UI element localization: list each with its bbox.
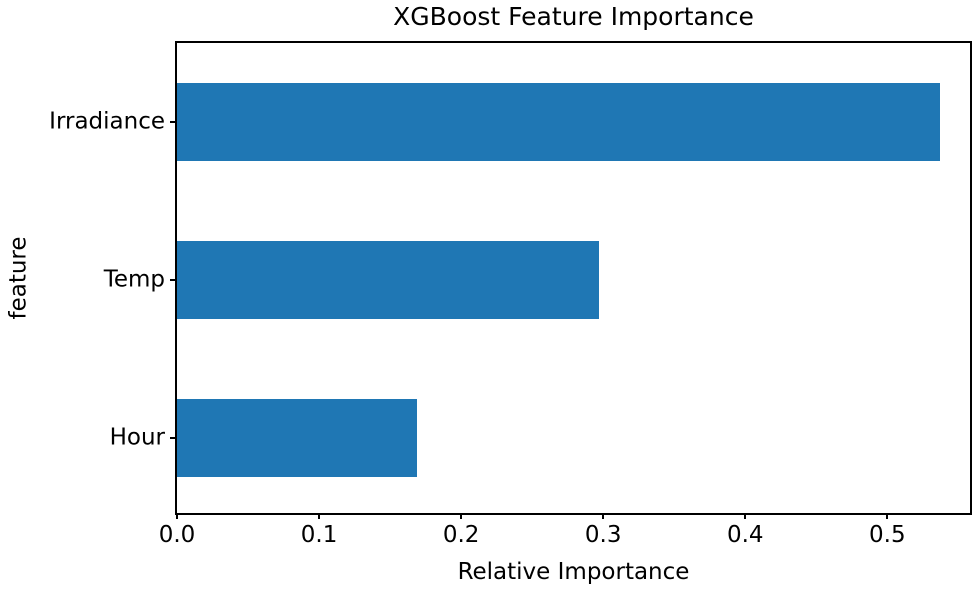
- x-tick-mark: [460, 513, 462, 519]
- y-tick-label-temp: Temp: [104, 269, 165, 292]
- y-tick-mark: [170, 279, 176, 281]
- y-tick-mark: [170, 121, 176, 123]
- y-axis-label-container: feature: [16, 0, 17, 593]
- x-tick-label: 0.2: [443, 524, 480, 547]
- bar-irradiance: [177, 83, 940, 161]
- x-tick-label: 0.4: [727, 524, 764, 547]
- chart-title: XGBoost Feature Importance: [175, 2, 972, 32]
- y-axis-label: feature: [8, 236, 31, 319]
- bars-layer: [177, 43, 970, 513]
- y-tick-label-hour: Hour: [110, 427, 165, 450]
- chart-figure: XGBoost Feature Importance feature Irrad…: [0, 0, 980, 593]
- x-tick-mark: [176, 513, 178, 519]
- y-tick-mark: [170, 437, 176, 439]
- x-tick-mark: [318, 513, 320, 519]
- x-tick-label: 0.3: [585, 524, 622, 547]
- x-tick-label: 0.1: [301, 524, 338, 547]
- x-tick-label: 0.5: [869, 524, 906, 547]
- bar-temp: [177, 241, 599, 319]
- x-tick-mark: [744, 513, 746, 519]
- x-tick-mark: [886, 513, 888, 519]
- bar-hour: [177, 399, 417, 477]
- x-tick-label: 0.0: [159, 524, 196, 547]
- plot-area: IrradianceTempHour 0.00.10.20.30.40.5: [175, 41, 972, 515]
- y-tick-label-irradiance: Irradiance: [49, 111, 165, 134]
- x-axis-label: Relative Importance: [175, 559, 972, 585]
- x-tick-mark: [602, 513, 604, 519]
